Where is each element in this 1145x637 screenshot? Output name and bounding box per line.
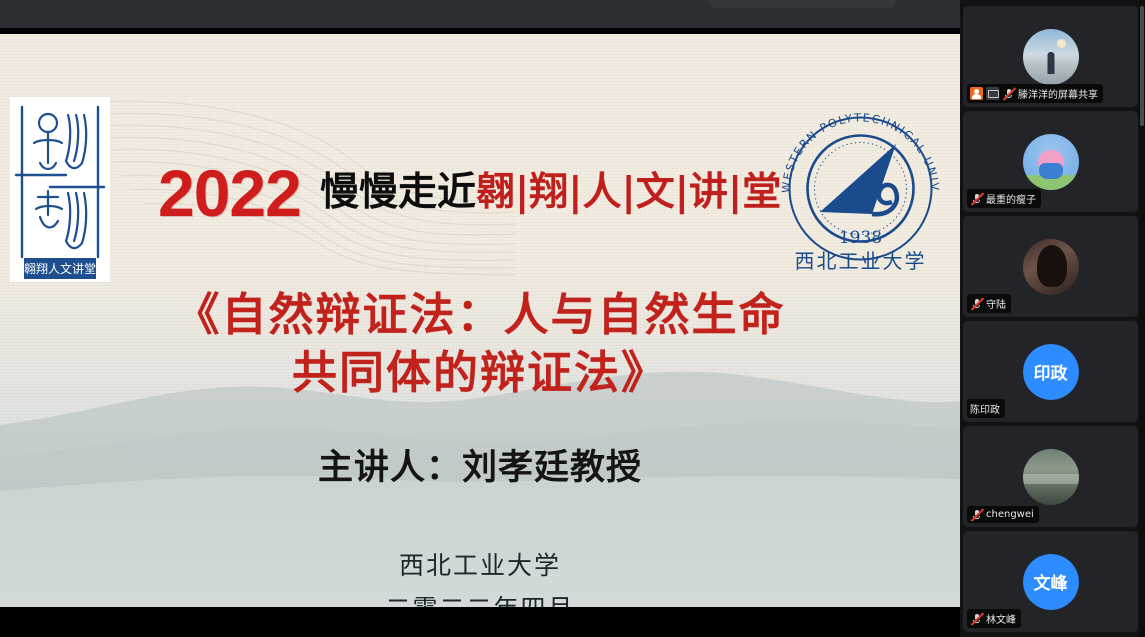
- slide-title-line1: 《自然辩证法：人与自然生命: [0, 286, 960, 344]
- shared-screen-area[interactable]: 翱翔人文讲堂 2022 慢慢走近翱|翔|人|文|讲|堂 NORTHWESTERN…: [0, 28, 960, 637]
- person-icon: [970, 87, 983, 100]
- slide-organization: 西北工业大学: [0, 546, 960, 582]
- share-bottom-letterbox: [0, 607, 960, 637]
- participant-name: chengwei: [986, 509, 1034, 520]
- slide-speaker: 主讲人：刘孝廷教授: [0, 439, 960, 490]
- participant-tile[interactable]: 滕洋洋的屏幕共享: [963, 6, 1138, 107]
- participant-label: 陈印政: [967, 399, 1005, 418]
- participant-name: 陈印政: [970, 401, 1000, 416]
- participant-label: 最重的瘦子: [967, 189, 1041, 208]
- slide-date: 二零二二年四月: [0, 589, 960, 607]
- avatar: [1023, 239, 1079, 295]
- mic-muted-icon: [970, 612, 983, 625]
- slide-title-line2: 共同体的辩证法》: [0, 344, 960, 402]
- participant-tile[interactable]: 最重的瘦子: [963, 111, 1138, 212]
- mic-muted-icon: [970, 297, 983, 310]
- meeting-toolbar-strip[interactable]: [0, 0, 960, 28]
- logo-artwork-icon: 翱翔人文讲堂: [10, 97, 110, 282]
- participant-name: 守陆: [986, 296, 1006, 311]
- seal-chinese-name: 西北工业大学: [795, 249, 927, 273]
- participant-name: 最重的瘦子: [986, 191, 1036, 206]
- participant-tile[interactable]: 印政 陈印政: [963, 321, 1138, 422]
- presentation-slide: 翱翔人文讲堂 2022 慢慢走近翱|翔|人|文|讲|堂 NORTHWESTERN…: [0, 34, 960, 607]
- participant-rail[interactable]: 滕洋洋的屏幕共享 最重的瘦子 守陆: [960, 0, 1145, 637]
- mic-muted-icon: [970, 508, 983, 521]
- participant-label: 林文峰: [967, 609, 1021, 628]
- meeting-window: 翱翔人文讲堂 2022 慢慢走近翱|翔|人|文|讲|堂 NORTHWESTERN…: [0, 0, 1145, 637]
- university-seal-icon: NORTHWESTERN POLYTECHNICAL UNIVERSITY 19…: [768, 96, 953, 281]
- headline-red-text: 翱|翔|人|文|讲|堂: [476, 170, 781, 215]
- participant-name: 林文峰: [986, 611, 1016, 626]
- lecture-series-logo: 翱翔人文讲堂: [10, 97, 110, 282]
- slide-year: 2022: [158, 160, 301, 226]
- mic-muted-icon: [1002, 87, 1015, 100]
- avatar: [1023, 29, 1079, 85]
- logo-caption-text: 翱翔人文讲堂: [24, 261, 96, 276]
- seal-year-text: 1938: [839, 228, 882, 248]
- avatar: [1023, 449, 1079, 505]
- slide-title: 《自然辩证法：人与自然生命 共同体的辩证法》: [0, 286, 960, 401]
- participant-label: chengwei: [967, 506, 1039, 523]
- participant-tile[interactable]: 守陆: [963, 216, 1138, 317]
- slide-headline: 慢慢走近翱|翔|人|文|讲|堂: [320, 173, 781, 212]
- participant-name: 滕洋洋的屏幕共享: [1018, 86, 1098, 101]
- avatar: 印政: [1023, 344, 1079, 400]
- mic-muted-icon: [970, 192, 983, 205]
- meeting-toolbar-pill[interactable]: [710, 0, 896, 8]
- participant-tile[interactable]: chengwei: [963, 426, 1138, 527]
- screen-share-icon: [986, 87, 999, 100]
- participant-label: 滕洋洋的屏幕共享: [967, 84, 1103, 103]
- avatar-initials: 文峰: [1023, 554, 1079, 610]
- rail-scrollbar-thumb[interactable]: [1140, 6, 1144, 126]
- seal-outer-text: NORTHWESTERN POLYTECHNICAL UNIVERSITY: [768, 96, 941, 193]
- avatar: [1023, 134, 1079, 190]
- participant-label: 守陆: [967, 294, 1011, 313]
- avatar: 文峰: [1023, 554, 1079, 610]
- rail-scrollbar[interactable]: [1139, 0, 1145, 637]
- participant-tile[interactable]: 文峰 林文峰: [963, 531, 1138, 632]
- headline-black-text: 慢慢走近: [320, 170, 476, 215]
- avatar-initials: 印政: [1023, 344, 1079, 400]
